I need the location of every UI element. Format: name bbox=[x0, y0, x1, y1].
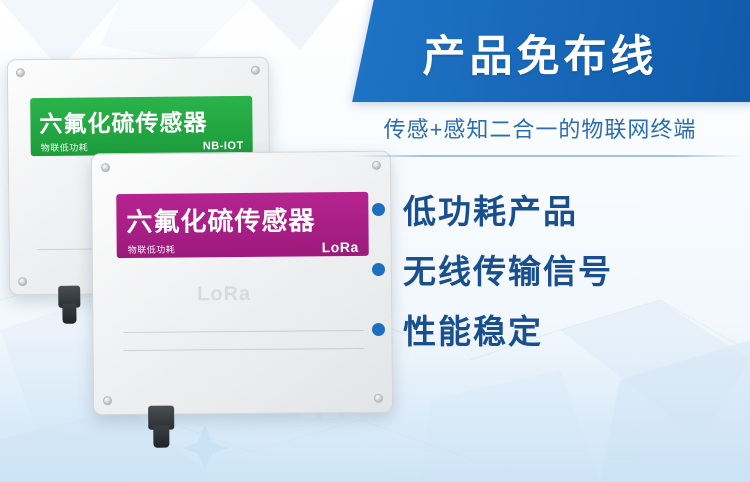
seam-line bbox=[124, 348, 364, 351]
label-title: 六氟化硫传感器 bbox=[30, 96, 252, 139]
label-model: NB-IOT bbox=[203, 139, 244, 151]
screw-icon bbox=[18, 277, 27, 286]
label-subtitle: 物联低功耗 bbox=[128, 242, 176, 255]
bullet-icon bbox=[372, 323, 385, 336]
list-item: 无线传输信号 bbox=[372, 242, 750, 296]
subheadline: 传感+感知二合一的物联网终端 bbox=[330, 112, 750, 144]
body-watermark: LoRa bbox=[197, 283, 251, 306]
screw-icon bbox=[251, 66, 260, 75]
bullet-icon bbox=[372, 203, 385, 216]
list-item: 低功耗产品 bbox=[372, 182, 750, 236]
screw-icon bbox=[103, 396, 112, 405]
product-label-nbiot: 六氟化硫传感器 物联低功耗 NB-IOT bbox=[30, 96, 253, 156]
feature-label: 低功耗产品 bbox=[403, 185, 578, 233]
feature-label: 无线传输信号 bbox=[403, 245, 613, 293]
screw-icon bbox=[101, 163, 110, 172]
screw-icon bbox=[16, 68, 25, 77]
cable bbox=[153, 426, 169, 448]
headline: 产品免布线 bbox=[330, 22, 750, 84]
seam-line bbox=[123, 330, 363, 333]
cable bbox=[62, 304, 76, 324]
product-banner: 六氟化硫传感器 物联低功耗 NB-IOT 六氟化硫传感器 物联低功耗 LoRa … bbox=[0, 0, 750, 482]
feature-label: 性能稳定 bbox=[403, 305, 543, 353]
feature-list: 低功耗产品 无线传输信号 性能稳定 bbox=[372, 182, 750, 362]
text-panel: 产品免布线 传感+感知二合一的物联网终端 低功耗产品 无线传输信号 性能稳定 bbox=[330, 0, 750, 482]
list-item: 性能稳定 bbox=[372, 302, 750, 356]
bullet-icon bbox=[372, 263, 385, 276]
divider bbox=[352, 155, 744, 157]
label-subtitle: 物联低功耗 bbox=[41, 141, 89, 154]
